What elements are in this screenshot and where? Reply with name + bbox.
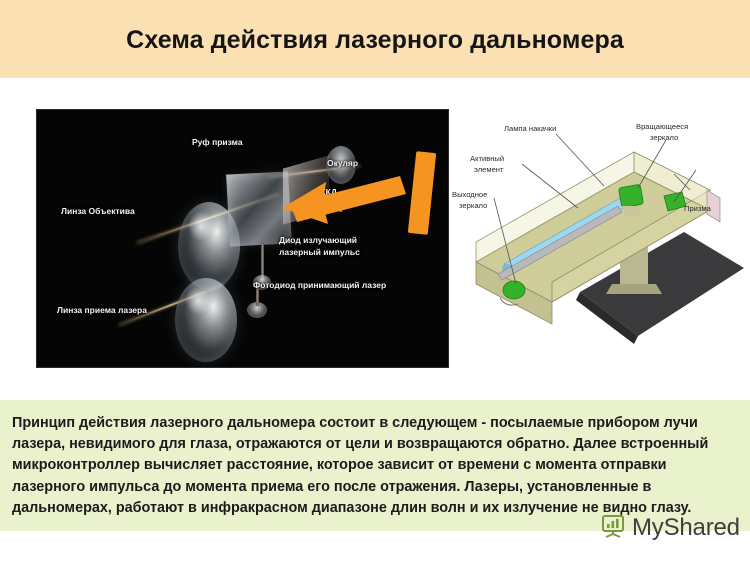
slide-header-band: Схема действия лазерного дальномера	[0, 0, 750, 78]
arrow-svg	[280, 148, 460, 248]
myshared-watermark: MyShared	[600, 508, 740, 548]
label-output-mirror-line1: Выходное	[452, 190, 487, 200]
label-receive-lens: Линза приема лазера	[57, 305, 147, 316]
receive-lens-glyph	[175, 278, 237, 362]
output-mirror-element	[503, 281, 525, 299]
label-rotating-mirror-line2: зеркало	[650, 133, 678, 143]
rotating-mirror-body	[618, 184, 643, 208]
label-output-mirror-line2: зеркало	[459, 201, 487, 211]
arrow-tail-bar	[408, 151, 436, 235]
page-title: Схема действия лазерного дальномера	[0, 26, 750, 55]
label-prism: Призма	[684, 204, 711, 214]
label-active-element-line2: элемент	[474, 165, 503, 175]
leader-prism-2	[674, 150, 702, 174]
label-rotating-mirror-line1: Вращающееся	[636, 122, 688, 132]
label-photodiode: Фотодиод принимающий лазер	[253, 280, 386, 291]
slide-root: Схема действия лазерного дальномера Руф …	[0, 0, 750, 562]
photodiode-post-glyph	[256, 288, 259, 306]
pedestal-foot	[606, 284, 662, 294]
laser-cavity-3d-diagram: Лампа накачки Вращающееся зеркало Активн…	[452, 112, 750, 367]
presentation-board-icon	[600, 513, 626, 544]
watermark-label: MyShared	[632, 514, 740, 542]
leader-pump-lamp	[556, 134, 604, 186]
label-objective-lens: Линза Объектива	[61, 206, 135, 217]
orange-pointer-arrow	[280, 148, 460, 248]
label-roof-prism: Руф призма	[192, 137, 243, 148]
label-emitting-diode-line2: лазерный импульс	[279, 247, 360, 258]
arrow-head	[282, 182, 342, 224]
laser-cavity-svg	[452, 112, 750, 367]
label-pump-lamp: Лампа накачки	[504, 124, 556, 134]
description-text: Принцип действия лазерного дальномера со…	[12, 413, 724, 519]
label-active-element-line1: Активный	[470, 154, 504, 164]
